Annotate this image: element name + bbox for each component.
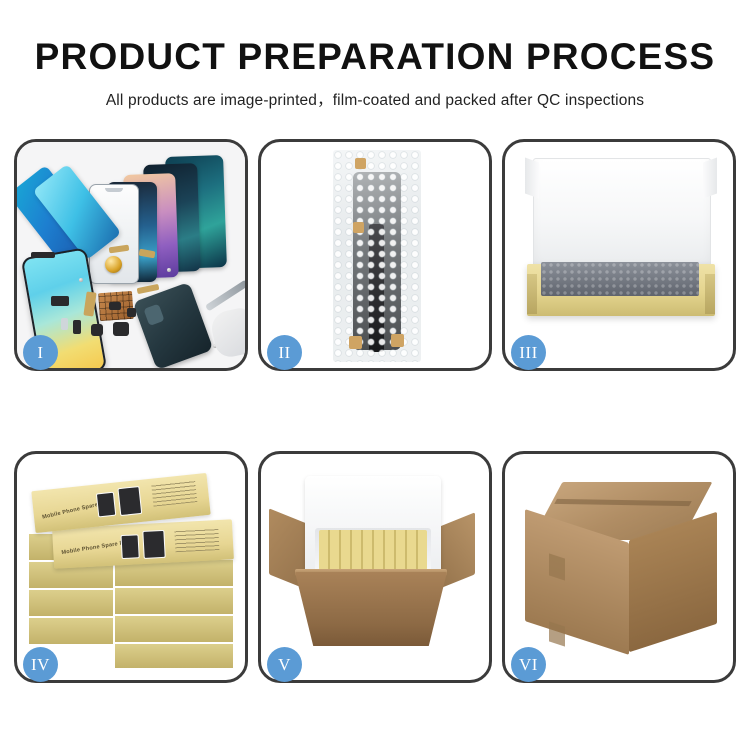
panel-foam-box: III: [502, 139, 736, 371]
header: PRODUCT PREPARATION PROCESS All products…: [0, 0, 750, 110]
component-chip: [127, 308, 136, 317]
component-chip: [91, 324, 103, 336]
foam-box-illustration: [505, 142, 733, 368]
bubble-wrap-illustration: [261, 142, 489, 368]
page-title: PRODUCT PREPARATION PROCESS: [0, 38, 750, 77]
box-corner-left: [527, 274, 537, 314]
panel-sealed-carton: VI: [502, 451, 736, 683]
white-inner-lid: [533, 158, 711, 272]
panel-phone-parts-image: [17, 142, 245, 368]
panel-stacked-boxes: Mobile Phone Spare Parts Mobile Phone Sp…: [14, 451, 248, 683]
stacked-box-side: [115, 588, 233, 614]
carton-tape-patch: [549, 621, 565, 646]
component-chip: [51, 296, 69, 306]
panel-badge-1: I: [23, 335, 58, 370]
component-bar: [31, 252, 55, 258]
stacked-box-side: [29, 590, 113, 616]
panel-grid: I II: [14, 139, 736, 683]
panel-badge-5: V: [267, 647, 302, 682]
panel-bubble-wrap-image: [261, 142, 489, 368]
component-chip: [61, 318, 68, 330]
bubble-texture: [333, 150, 421, 362]
lid-flap-right: [703, 157, 717, 198]
tape-piece: [391, 334, 404, 347]
lid-flap-left: [525, 157, 539, 198]
gloved-hand: [209, 306, 245, 359]
phone-back-housing: [132, 282, 213, 368]
component-chip: [73, 320, 81, 334]
tweezers-tool: [205, 279, 245, 311]
panel-stacked-boxes-image: Mobile Phone Spare Parts Mobile Phone Sp…: [17, 454, 245, 680]
yellow-boxes-row: [319, 530, 427, 570]
box-stack-illustration: Mobile Phone Spare Parts Mobile Phone Sp…: [27, 472, 241, 668]
stacked-box-side: [115, 644, 233, 668]
sealed-carton-illustration: [525, 482, 719, 650]
carton-body: [295, 572, 447, 646]
speaker-coil-part: [105, 256, 122, 273]
phone-parts-illustration: [17, 142, 245, 368]
tape-piece: [355, 158, 366, 169]
stacked-box-side: [29, 618, 113, 644]
tape-piece: [349, 336, 362, 349]
panel-carton-packing: V: [258, 451, 492, 683]
box-artwork-thumb: [121, 534, 140, 559]
stacked-box-side: [115, 616, 233, 642]
box-artwork-thumb: [142, 530, 165, 559]
panel-bubble-wrap: II: [258, 139, 492, 371]
panel-foam-box-image: [505, 142, 733, 368]
component-chip: [113, 322, 129, 336]
box-artwork-thumb: [117, 486, 142, 516]
tape-piece: [353, 222, 364, 233]
box-artwork-thumb: [96, 492, 116, 518]
page-subtitle: All products are image-printed，film-coat…: [0, 88, 750, 110]
screw-part: [79, 278, 83, 282]
box-spec-lines: [151, 480, 197, 506]
panel-sealed-carton-image: [505, 454, 733, 680]
panel-badge-4: IV: [23, 647, 58, 682]
gray-foam-insert: [541, 262, 699, 296]
panel-phone-parts: I: [14, 139, 248, 371]
bubble-wrap-bag: [333, 150, 421, 362]
component-chip: [109, 302, 121, 310]
box-spec-lines: [174, 528, 219, 552]
screw-part: [167, 268, 171, 272]
carton-packing-illustration: [261, 454, 489, 680]
panel-badge-6: VI: [511, 647, 546, 682]
panel-carton-packing-image: [261, 454, 489, 680]
panel-badge-3: III: [511, 335, 546, 370]
box-corner-right: [705, 274, 715, 314]
panel-badge-2: II: [267, 335, 302, 370]
